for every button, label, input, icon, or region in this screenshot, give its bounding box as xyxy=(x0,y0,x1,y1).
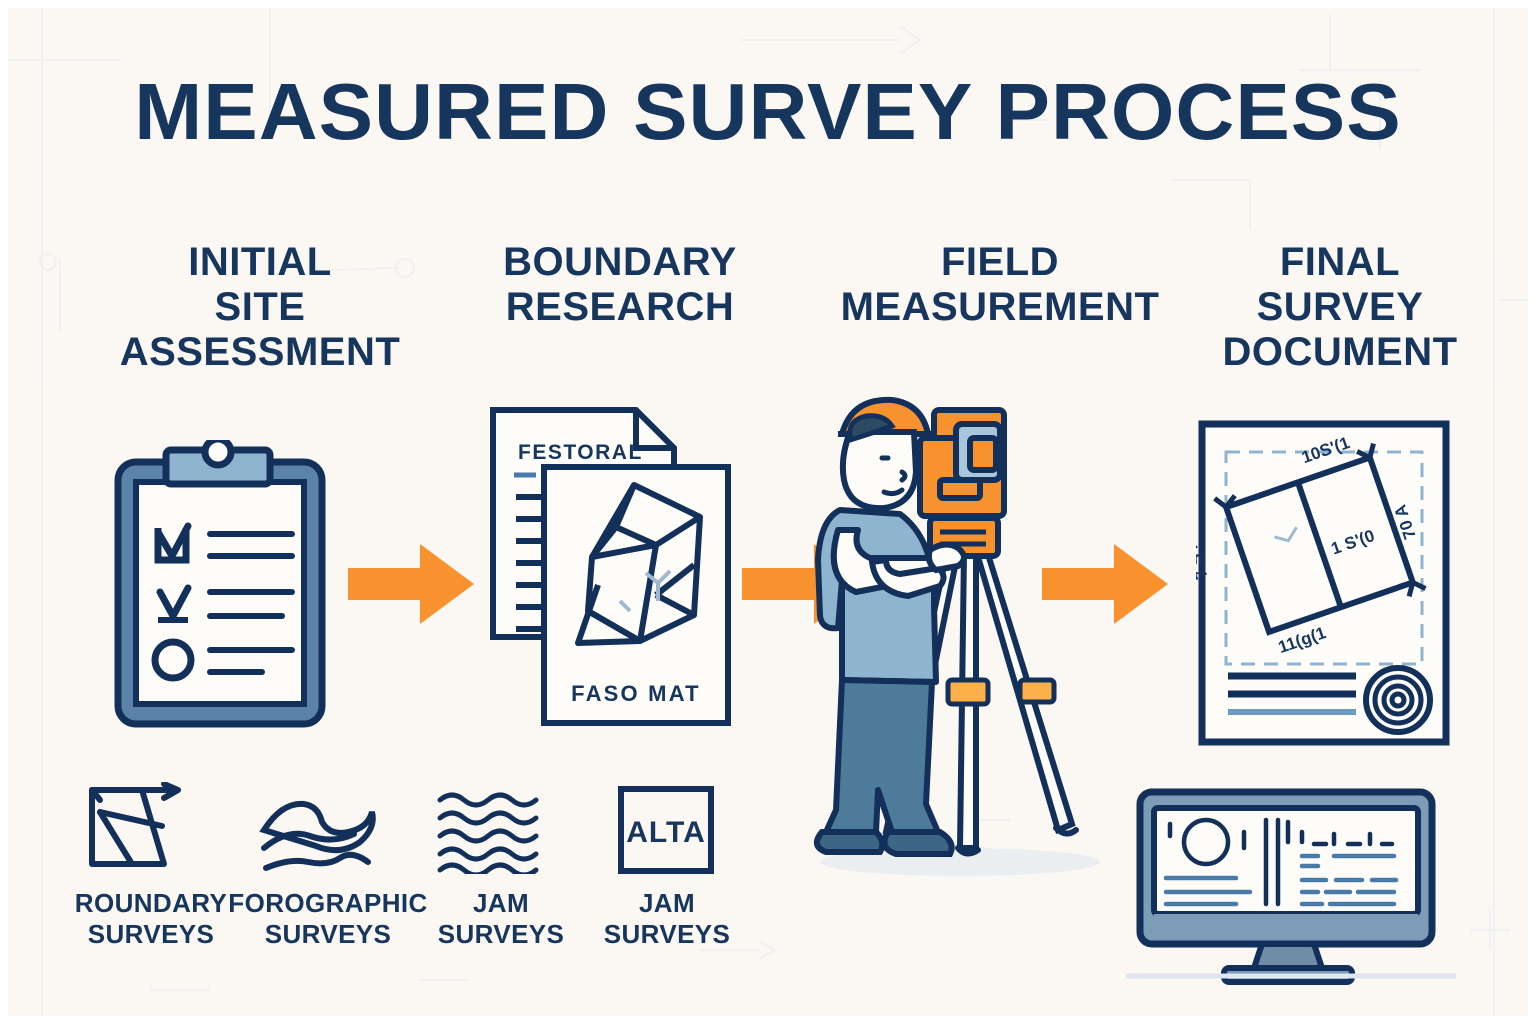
survey-type-wave-surveys: JAM SURVEYS xyxy=(418,888,584,949)
clipboard-checklist-icon xyxy=(100,440,340,740)
wavy-lines-icon xyxy=(436,788,554,874)
survey-type-boundary-surveys: ROUNDARY SURVEYS xyxy=(56,888,246,949)
survey-type-label-line-1: JAM xyxy=(584,888,750,919)
step-heading-line-2: RESEARCH xyxy=(420,285,820,330)
survey-type-label-line-2: SURVEYS xyxy=(418,919,584,950)
alta-badge-label: ALTA xyxy=(626,816,706,849)
document-back-label: FESTORAL xyxy=(518,441,643,464)
surveyor-total-station-icon xyxy=(780,380,1120,890)
alta-square-icon: ALTA xyxy=(616,784,716,876)
document-front-label: FASO MAT xyxy=(571,681,701,706)
step-heading-boundary-research: BOUNDARY RESEARCH xyxy=(420,240,820,330)
desktop-monitor-cad-icon xyxy=(1126,786,1456,986)
page-title: MEASURED SURVEY PROCESS xyxy=(0,72,1536,152)
arrow-3 xyxy=(1042,540,1168,628)
survey-type-label-line-2: SURVEYS xyxy=(584,919,750,950)
step-heading-line-1: FINAL xyxy=(1170,240,1510,285)
step-heading-initial-site-assessment: INITIAL SITE ASSESSMENT xyxy=(60,240,460,374)
step-heading-field-measurement: FIELD MEASUREMENT xyxy=(790,240,1210,330)
step-heading-line-2: SITE xyxy=(60,285,460,330)
survey-type-topographic-surveys: FOROGRAPHIC SURVEYS xyxy=(222,888,434,949)
survey-type-label-line-2: SURVEYS xyxy=(222,919,434,950)
infographic-canvas: MEASURED SURVEY PROCESS INITIAL SITE ASS… xyxy=(0,0,1536,1024)
boundary-plot-icon xyxy=(80,782,200,872)
survey-type-label-line-1: ROUNDARY xyxy=(56,888,246,919)
survey-type-label-line-2: SURVEYS xyxy=(56,919,246,950)
step-heading-line-1: BOUNDARY xyxy=(420,240,820,285)
arrow-1 xyxy=(348,540,474,628)
step-heading-line-1: INITIAL xyxy=(60,240,460,285)
survey-type-alta-surveys: JAM SURVEYS xyxy=(584,888,750,949)
contour-lines-icon xyxy=(256,788,386,874)
step-heading-final-survey-document: FINAL SURVEY DOCUMENT xyxy=(1170,240,1510,374)
plat-certificate-icon: 10S'(1 7 S'lG 1 S'(0 70 A 11(g(1 xyxy=(1196,418,1452,748)
survey-type-label-line-1: JAM xyxy=(418,888,584,919)
step-heading-line-2: MEASUREMENT xyxy=(790,285,1210,330)
step-heading-line-3: ASSESSMENT xyxy=(60,330,460,375)
step-heading-line-2: SURVEY xyxy=(1170,285,1510,330)
step-heading-line-3: DOCUMENT xyxy=(1170,330,1510,375)
step-heading-line-1: FIELD xyxy=(790,240,1210,285)
survey-type-label-line-1: FOROGRAPHIC xyxy=(222,888,434,919)
document-stack-parcel-map-icon: FESTORAL xyxy=(488,405,734,735)
